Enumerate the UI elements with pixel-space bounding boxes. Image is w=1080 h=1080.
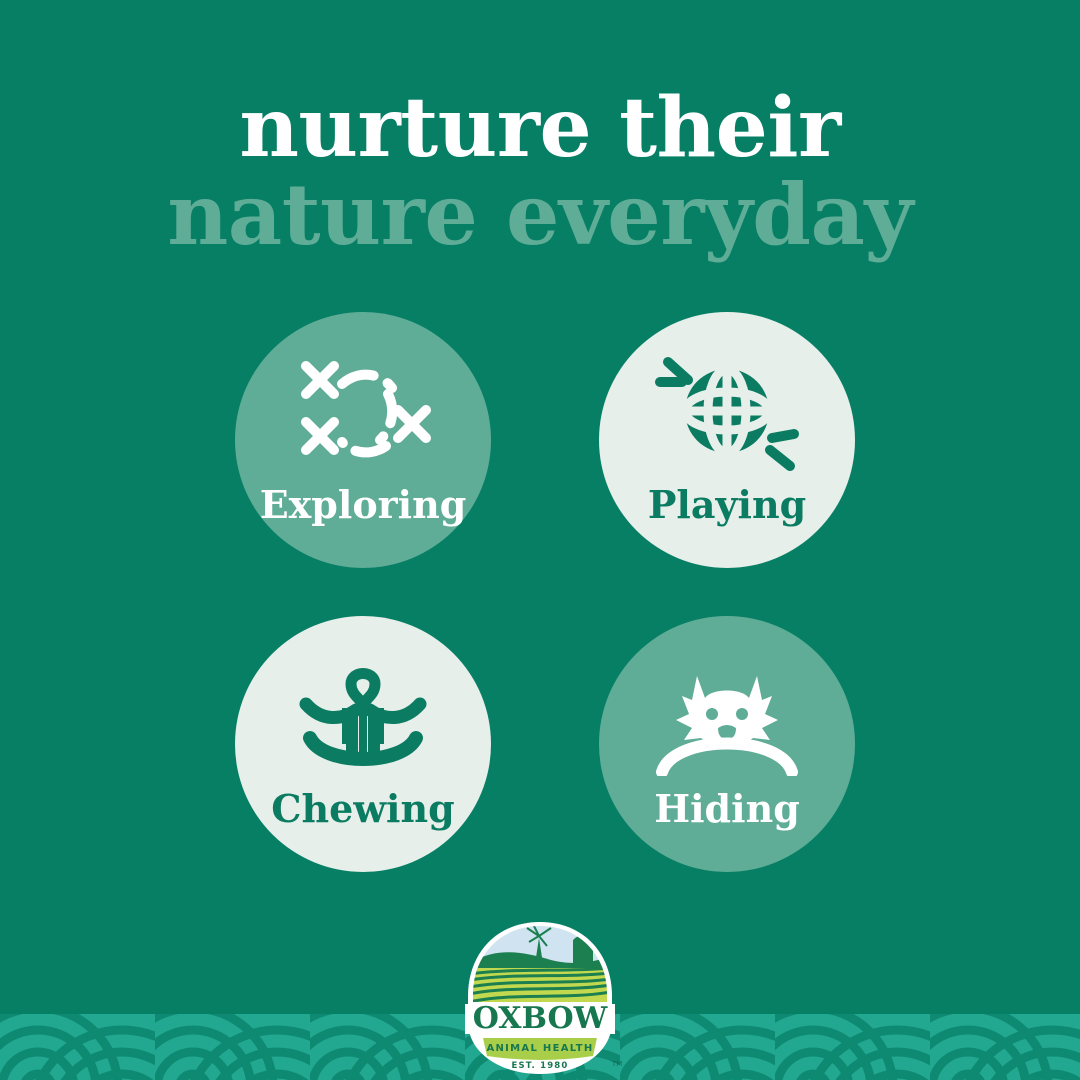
logo-trademark: TM (611, 1060, 622, 1068)
animal-peeking-burrow-icon (652, 658, 802, 776)
chew-toy-icon (288, 658, 438, 776)
headline-line-2: nature everyday (0, 174, 1080, 256)
card-label-playing: Playing (648, 486, 806, 524)
card-label-chewing: Chewing (271, 790, 454, 828)
card-exploring[interactable]: Exploring (235, 312, 491, 568)
poster-canvas: nurture their nature everyday (0, 0, 1080, 1080)
card-chewing[interactable]: Chewing (235, 616, 491, 872)
logo-established: EST. 1980 (511, 1061, 568, 1071)
map-route-icon (288, 354, 438, 472)
oxbow-logo-svg: OXBOW ANIMAL HEALTH EST. 1980 TM (455, 918, 625, 1080)
play-ball-icon (652, 354, 802, 472)
card-hiding[interactable]: Hiding (599, 616, 855, 872)
card-label-hiding: Hiding (654, 790, 800, 828)
card-label-exploring: Exploring (260, 486, 467, 524)
logo-tagline: ANIMAL HEALTH (486, 1043, 593, 1054)
logo-wordmark: OXBOW (473, 1001, 609, 1036)
logo-farm-scene (469, 924, 611, 1004)
oxbow-logo[interactable]: OXBOW ANIMAL HEALTH EST. 1980 TM (455, 918, 625, 1080)
activity-grid: Exploring (235, 312, 855, 912)
headline-line-1: nurture their (0, 88, 1080, 168)
headline-block: nurture their nature everyday (0, 88, 1080, 257)
card-playing[interactable]: Playing (599, 312, 855, 568)
